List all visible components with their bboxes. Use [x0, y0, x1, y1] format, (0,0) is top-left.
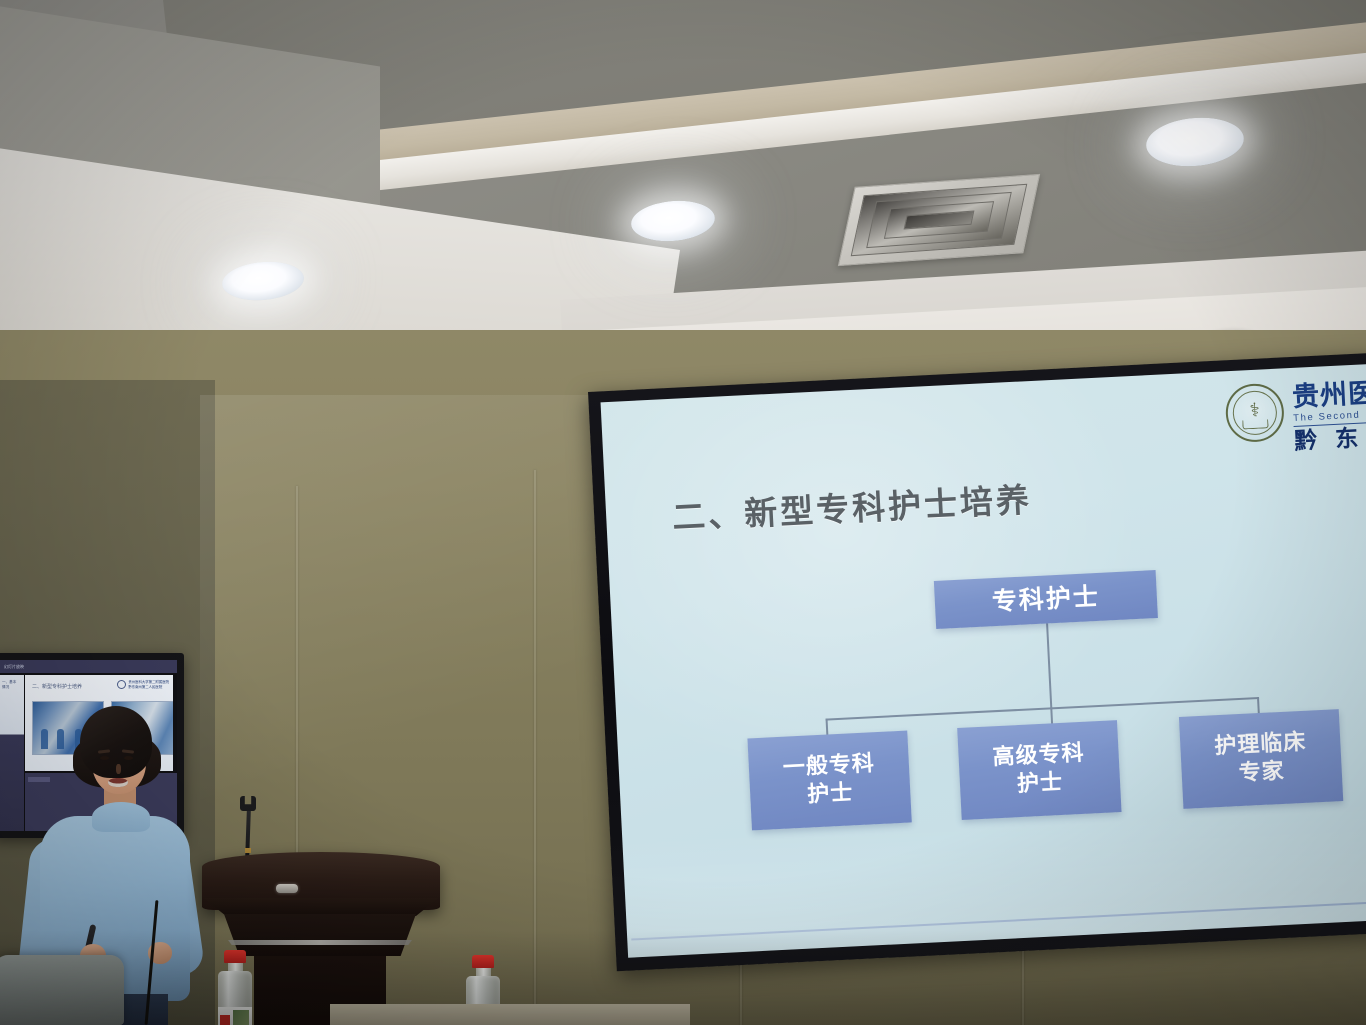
slide-title: 二、新型专科护士培养	[671, 473, 1033, 539]
floor-shadow	[0, 930, 1366, 1025]
presenter-nose	[116, 764, 121, 774]
logo-cn-line2: 黔 东	[1294, 422, 1366, 453]
microphone-band	[245, 848, 251, 853]
book-icon	[1242, 419, 1268, 429]
monitor-logo: 贵州医科大学第二附属医院黔东南州第二人民医院	[117, 680, 169, 689]
hospital-seal-icon: ⚕	[1224, 382, 1285, 443]
org-edge-stem	[1046, 623, 1052, 709]
hospital-logo: ⚕ 贵州医 The Second 黔 东	[1224, 378, 1366, 457]
monitor-toolbar-label: 幻灯片放映	[4, 664, 24, 670]
caduceus-icon: ⚕	[1249, 401, 1260, 420]
logo-cn-line1: 贵州医	[1291, 380, 1366, 411]
presenter-eye-left	[100, 756, 109, 760]
org-node-child-1: 一般专科护士	[747, 731, 911, 831]
conference-room-photo: ⚕ 贵州医 The Second 黔 东 二、新型专科护士培养 专科护士	[0, 0, 1366, 1025]
monitor-toolbar: 幻灯片放映	[0, 660, 177, 673]
lectern-lip	[196, 898, 446, 916]
monitor-slide-title: 二、新型专科护士培养	[32, 683, 82, 690]
org-chart: 专科护士 一般专科护士 高级专科护士 护理临床专家	[730, 559, 1366, 851]
lectern-nameplate	[276, 884, 298, 893]
ceiling-vent-icon	[838, 174, 1040, 266]
presenter-eye-right	[124, 756, 133, 760]
presenter-mouth	[108, 778, 128, 787]
projection-screen[interactable]: ⚕ 贵州医 The Second 黔 东 二、新型专科护士培养 专科护士	[588, 353, 1366, 972]
monitor-thumbnail-label: 一、基本情况	[2, 680, 16, 691]
monitor-logo-text: 贵州医科大学第二附属医院黔东南州第二人民医院	[128, 680, 169, 689]
presentation-slide: ⚕ 贵州医 The Second 黔 东 二、新型专科护士培养 专科护士	[601, 364, 1366, 958]
org-node-root: 专科护士	[934, 570, 1158, 629]
org-node-child-2: 高级专科护士	[957, 720, 1121, 820]
monitor-seal-icon	[117, 680, 126, 689]
org-node-child-3: 护理临床专家	[1179, 709, 1343, 809]
presenter-collar	[92, 802, 150, 832]
logo-text-block: 贵州医 The Second 黔 东	[1291, 378, 1366, 454]
